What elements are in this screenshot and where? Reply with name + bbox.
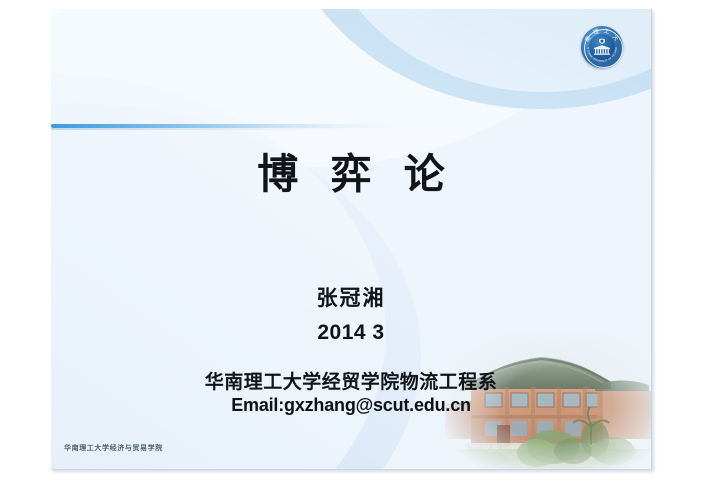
slide-main-title: 博 弈 论 xyxy=(51,152,651,197)
byline-block: 张冠湘 2014 3 xyxy=(51,284,651,347)
presentation-date: 2014 3 xyxy=(51,320,651,346)
author-email: Email:gxzhang@scut.edu.cn xyxy=(51,395,651,416)
slide-viewport: 华 南 理 工 大 学 SOUTH CHINA UNIVERSITY OF TE… xyxy=(0,0,702,496)
author-name: 张冠湘 xyxy=(51,284,651,312)
department-affiliation: 华南理工大学经贸学院物流工程系 xyxy=(51,367,651,394)
presentation-title-slide: 华 南 理 工 大 学 SOUTH CHINA UNIVERSITY OF TE… xyxy=(51,9,652,470)
title-divider-rule xyxy=(51,124,401,128)
seal-crest-icon xyxy=(598,38,606,44)
background-top-arc-shape xyxy=(51,9,651,167)
footer-school-name: 华南理工大学经济与贸易学院 xyxy=(64,443,163,453)
title-divider-rule-shadow xyxy=(51,128,401,130)
scut-university-seal: 华 南 理 工 大 学 SOUTH CHINA UNIVERSITY OF TE… xyxy=(581,26,623,68)
seal-building-icon xyxy=(593,44,611,55)
